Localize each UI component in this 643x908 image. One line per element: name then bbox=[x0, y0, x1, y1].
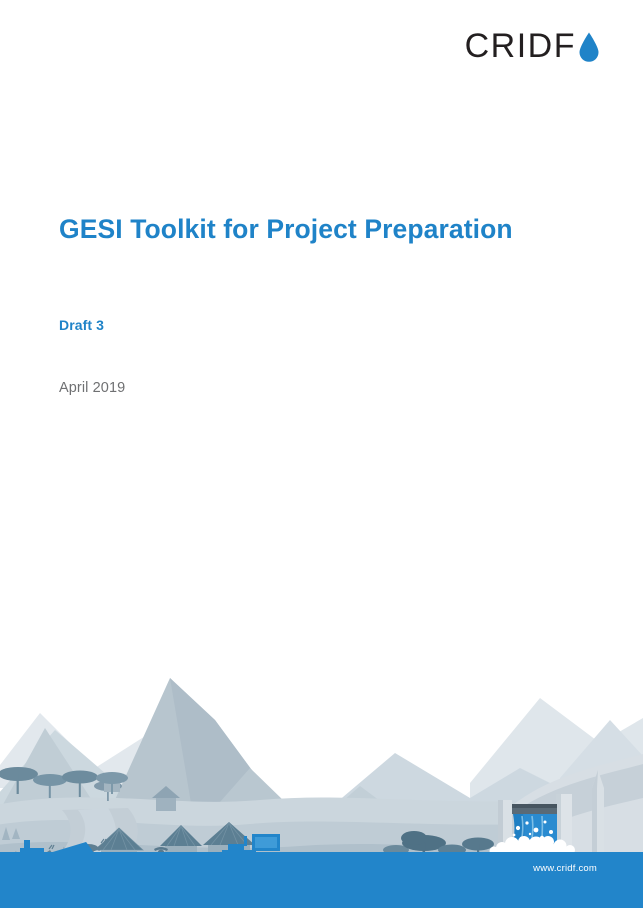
water-droplet-icon bbox=[577, 31, 601, 63]
draft-version-label: Draft 3 bbox=[59, 317, 104, 333]
footer-website-url[interactable]: www.cridf.com bbox=[533, 863, 597, 874]
title-block: GESI Toolkit for Project Preparation bbox=[59, 214, 589, 246]
page-title: GESI Toolkit for Project Preparation bbox=[59, 214, 589, 246]
footer-bar: www.cridf.com bbox=[0, 852, 643, 908]
cridf-wordmark: CRIDF bbox=[465, 29, 576, 63]
cridf-logo: CRIDF bbox=[465, 26, 601, 66]
document-cover-page: CRIDF GESI Toolkit for Project Preparati… bbox=[0, 0, 643, 908]
document-date: April 2019 bbox=[59, 380, 125, 396]
